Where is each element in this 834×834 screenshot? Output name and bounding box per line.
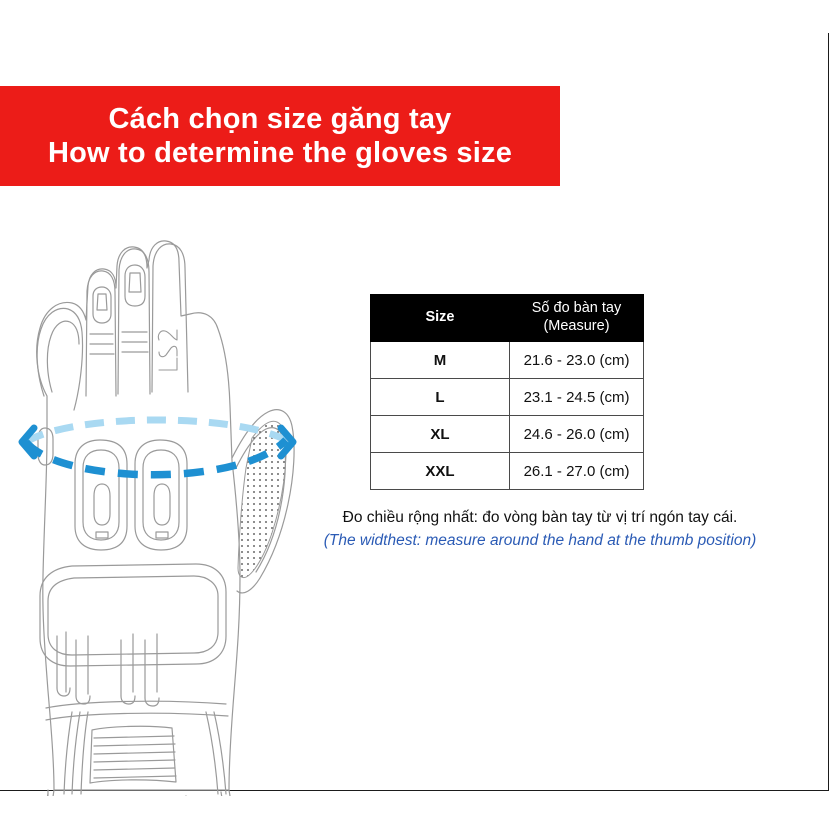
table-header-row: Size Số đo bàn tay (Measure) [371, 295, 644, 342]
size-guide-page: Cách chọn size găng tay How to determine… [0, 0, 834, 834]
header-measure: Số đo bàn tay (Measure) [510, 295, 644, 342]
size-table: Size Số đo bàn tay (Measure) M 21.6 - 23… [370, 294, 644, 490]
cell-measure: 26.1 - 27.0 (cm) [510, 453, 644, 490]
frame-right-rule [828, 33, 829, 791]
instruction-vietnamese: Đo chiều rộng nhất: đo vòng bàn tay từ v… [290, 506, 790, 529]
cell-measure: 23.1 - 24.5 (cm) [510, 379, 644, 416]
cell-measure: 24.6 - 26.0 (cm) [510, 416, 644, 453]
cell-size: XL [371, 416, 510, 453]
cell-size: L [371, 379, 510, 416]
header-measure-vi: Số đo bàn tay [510, 300, 643, 318]
cell-measure: 21.6 - 23.0 (cm) [510, 342, 644, 379]
header-measure-en: (Measure) [510, 318, 643, 336]
title-banner: Cách chọn size găng tay How to determine… [0, 86, 560, 186]
table-row: L 23.1 - 24.5 (cm) [371, 379, 644, 416]
title-english: How to determine the gloves size [48, 137, 512, 171]
glove-illustration [0, 196, 330, 796]
measure-instruction: Đo chiều rộng nhất: đo vòng bàn tay từ v… [290, 506, 790, 553]
glove-outline [37, 241, 294, 794]
table-row: M 21.6 - 23.0 (cm) [371, 342, 644, 379]
table-row: XXL 26.1 - 27.0 (cm) [371, 453, 644, 490]
measure-line-back [26, 420, 286, 442]
cell-size: M [371, 342, 510, 379]
header-size: Size [371, 295, 510, 342]
glove-gauntlet [37, 790, 241, 796]
table-row: XL 24.6 - 26.0 (cm) [371, 416, 644, 453]
cell-size: XXL [371, 453, 510, 490]
title-vietnamese: Cách chọn size găng tay [108, 103, 451, 137]
instruction-english: (The widthest: measure around the hand a… [290, 529, 790, 552]
